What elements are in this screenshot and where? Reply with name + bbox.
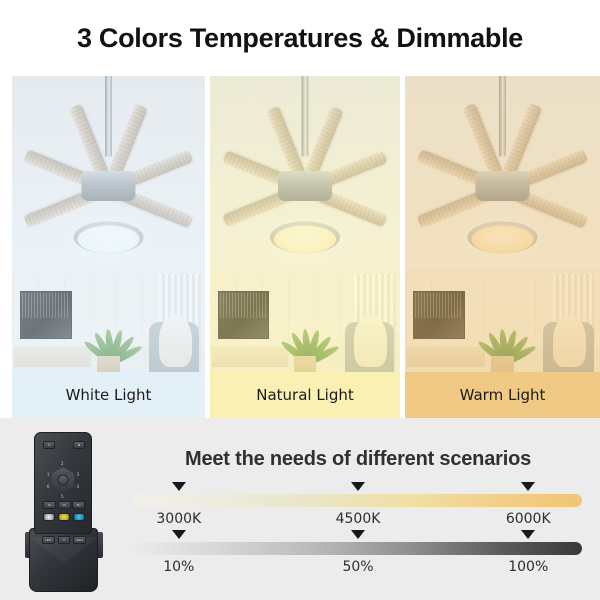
- panel-caption-band: Natural Light: [210, 372, 400, 418]
- remote-color-row[interactable]: [43, 513, 85, 521]
- dim-down-button[interactable]: LED-: [42, 536, 55, 544]
- kelvin-marker-4500k[interactable]: [351, 482, 365, 491]
- color-natural-button[interactable]: [58, 513, 70, 521]
- media-console: [14, 346, 91, 367]
- dim-label-10: 10%: [163, 559, 194, 575]
- dim-marker-100[interactable]: [521, 530, 535, 539]
- panel-caption-label: Natural Light: [256, 386, 354, 404]
- remote-timer-row[interactable]: 1H 4H 8H: [43, 501, 85, 509]
- speed-center-button[interactable]: [58, 475, 69, 486]
- scenarios-section: Meet the needs of different scenarios ⏻ …: [0, 418, 600, 600]
- speed-2[interactable]: 2: [61, 461, 64, 466]
- dim-marker-50[interactable]: [351, 530, 365, 539]
- fan-downrod: [105, 76, 112, 156]
- fan-motor-housing: [278, 171, 332, 201]
- panel-white-light[interactable]: White Light: [12, 76, 205, 418]
- speed-4[interactable]: 4: [76, 484, 79, 489]
- panel-warm-light[interactable]: Warm Light: [405, 76, 600, 418]
- remote-keypad[interactable]: ⏻ ❂ 2 1 3 6 4 5 1H 4H 8H: [34, 432, 92, 534]
- kelvin-marker-3000k[interactable]: [172, 482, 186, 491]
- speed-5[interactable]: 5: [61, 494, 64, 499]
- television: [20, 291, 72, 339]
- ceiling-fan: [405, 86, 600, 291]
- television: [413, 291, 466, 339]
- scenarios-title: Meet the needs of different scenarios: [128, 448, 588, 471]
- sheepskin-throw: [354, 315, 386, 366]
- fan-motor-housing: [476, 171, 530, 201]
- page-title: 3 Colors Temperatures & Dimmable: [77, 23, 523, 54]
- timer-1h-button[interactable]: 1H: [43, 501, 56, 509]
- header: 3 Colors Temperatures & Dimmable: [0, 0, 600, 76]
- kelvin-gradient-bar[interactable]: [134, 494, 582, 507]
- kelvin-label-4500k: 4500K: [336, 511, 381, 527]
- color-white-button[interactable]: [43, 513, 55, 521]
- sheepskin-throw: [159, 315, 192, 366]
- dim-label-100: 100%: [508, 559, 548, 575]
- plant-foliage: [479, 285, 528, 364]
- room-scene: [12, 76, 205, 418]
- remote-power-row[interactable]: ⏻ ❂: [43, 441, 85, 449]
- kelvin-label-3000k: 3000K: [156, 511, 201, 527]
- media-console: [212, 346, 288, 367]
- remote-dim-row[interactable]: LED- ☀ LED+: [42, 536, 86, 544]
- dim-up-button[interactable]: LED+: [73, 536, 86, 544]
- panel-caption-label: Warm Light: [460, 386, 546, 404]
- remote-speed-dial[interactable]: 2 1 3 6 4 5: [46, 463, 80, 497]
- speed-3[interactable]: 3: [76, 472, 79, 477]
- sheepskin-throw: [553, 315, 586, 366]
- timer-4h-button[interactable]: 4H: [58, 501, 71, 509]
- speed-1[interactable]: 1: [47, 472, 50, 477]
- dim-label-50: 50%: [342, 559, 373, 575]
- fan-downrod: [499, 76, 506, 156]
- led-light-globe: [274, 226, 336, 254]
- speed-6[interactable]: 6: [47, 484, 50, 489]
- room-scene: [210, 76, 400, 418]
- timer-8h-button[interactable]: 8H: [72, 501, 85, 509]
- ceiling-fan: [12, 86, 205, 291]
- fan-motor-housing: [82, 171, 136, 201]
- ceiling-fan: [210, 86, 400, 291]
- media-console: [407, 346, 485, 367]
- panel-caption-band: Warm Light: [405, 372, 600, 418]
- kelvin-marker-6000k[interactable]: [521, 482, 535, 491]
- plant-foliage: [282, 285, 330, 364]
- light-toggle-icon[interactable]: ☀: [58, 536, 70, 544]
- led-light-globe: [472, 226, 534, 254]
- light-mode-panels: White Light: [0, 76, 600, 418]
- kelvin-label-6000k: 6000K: [506, 511, 551, 527]
- fan-icon[interactable]: ❂: [73, 441, 85, 449]
- panel-caption-label: White Light: [66, 386, 152, 404]
- color-warm-button[interactable]: [73, 513, 85, 521]
- power-icon[interactable]: ⏻: [43, 441, 55, 449]
- plant-foliage: [85, 285, 133, 364]
- room-scene: [405, 76, 600, 418]
- panel-natural-light[interactable]: Natural Light: [210, 76, 400, 418]
- television: [218, 291, 269, 339]
- led-light-globe: [78, 226, 140, 254]
- ceiling-fan-remote[interactable]: ⏻ ❂ 2 1 3 6 4 5 1H 4H 8H: [28, 432, 100, 592]
- dimming-gradient-bar[interactable]: [134, 542, 582, 555]
- panel-caption-band: White Light: [12, 372, 205, 418]
- fan-downrod: [302, 76, 309, 156]
- dim-marker-10[interactable]: [172, 530, 186, 539]
